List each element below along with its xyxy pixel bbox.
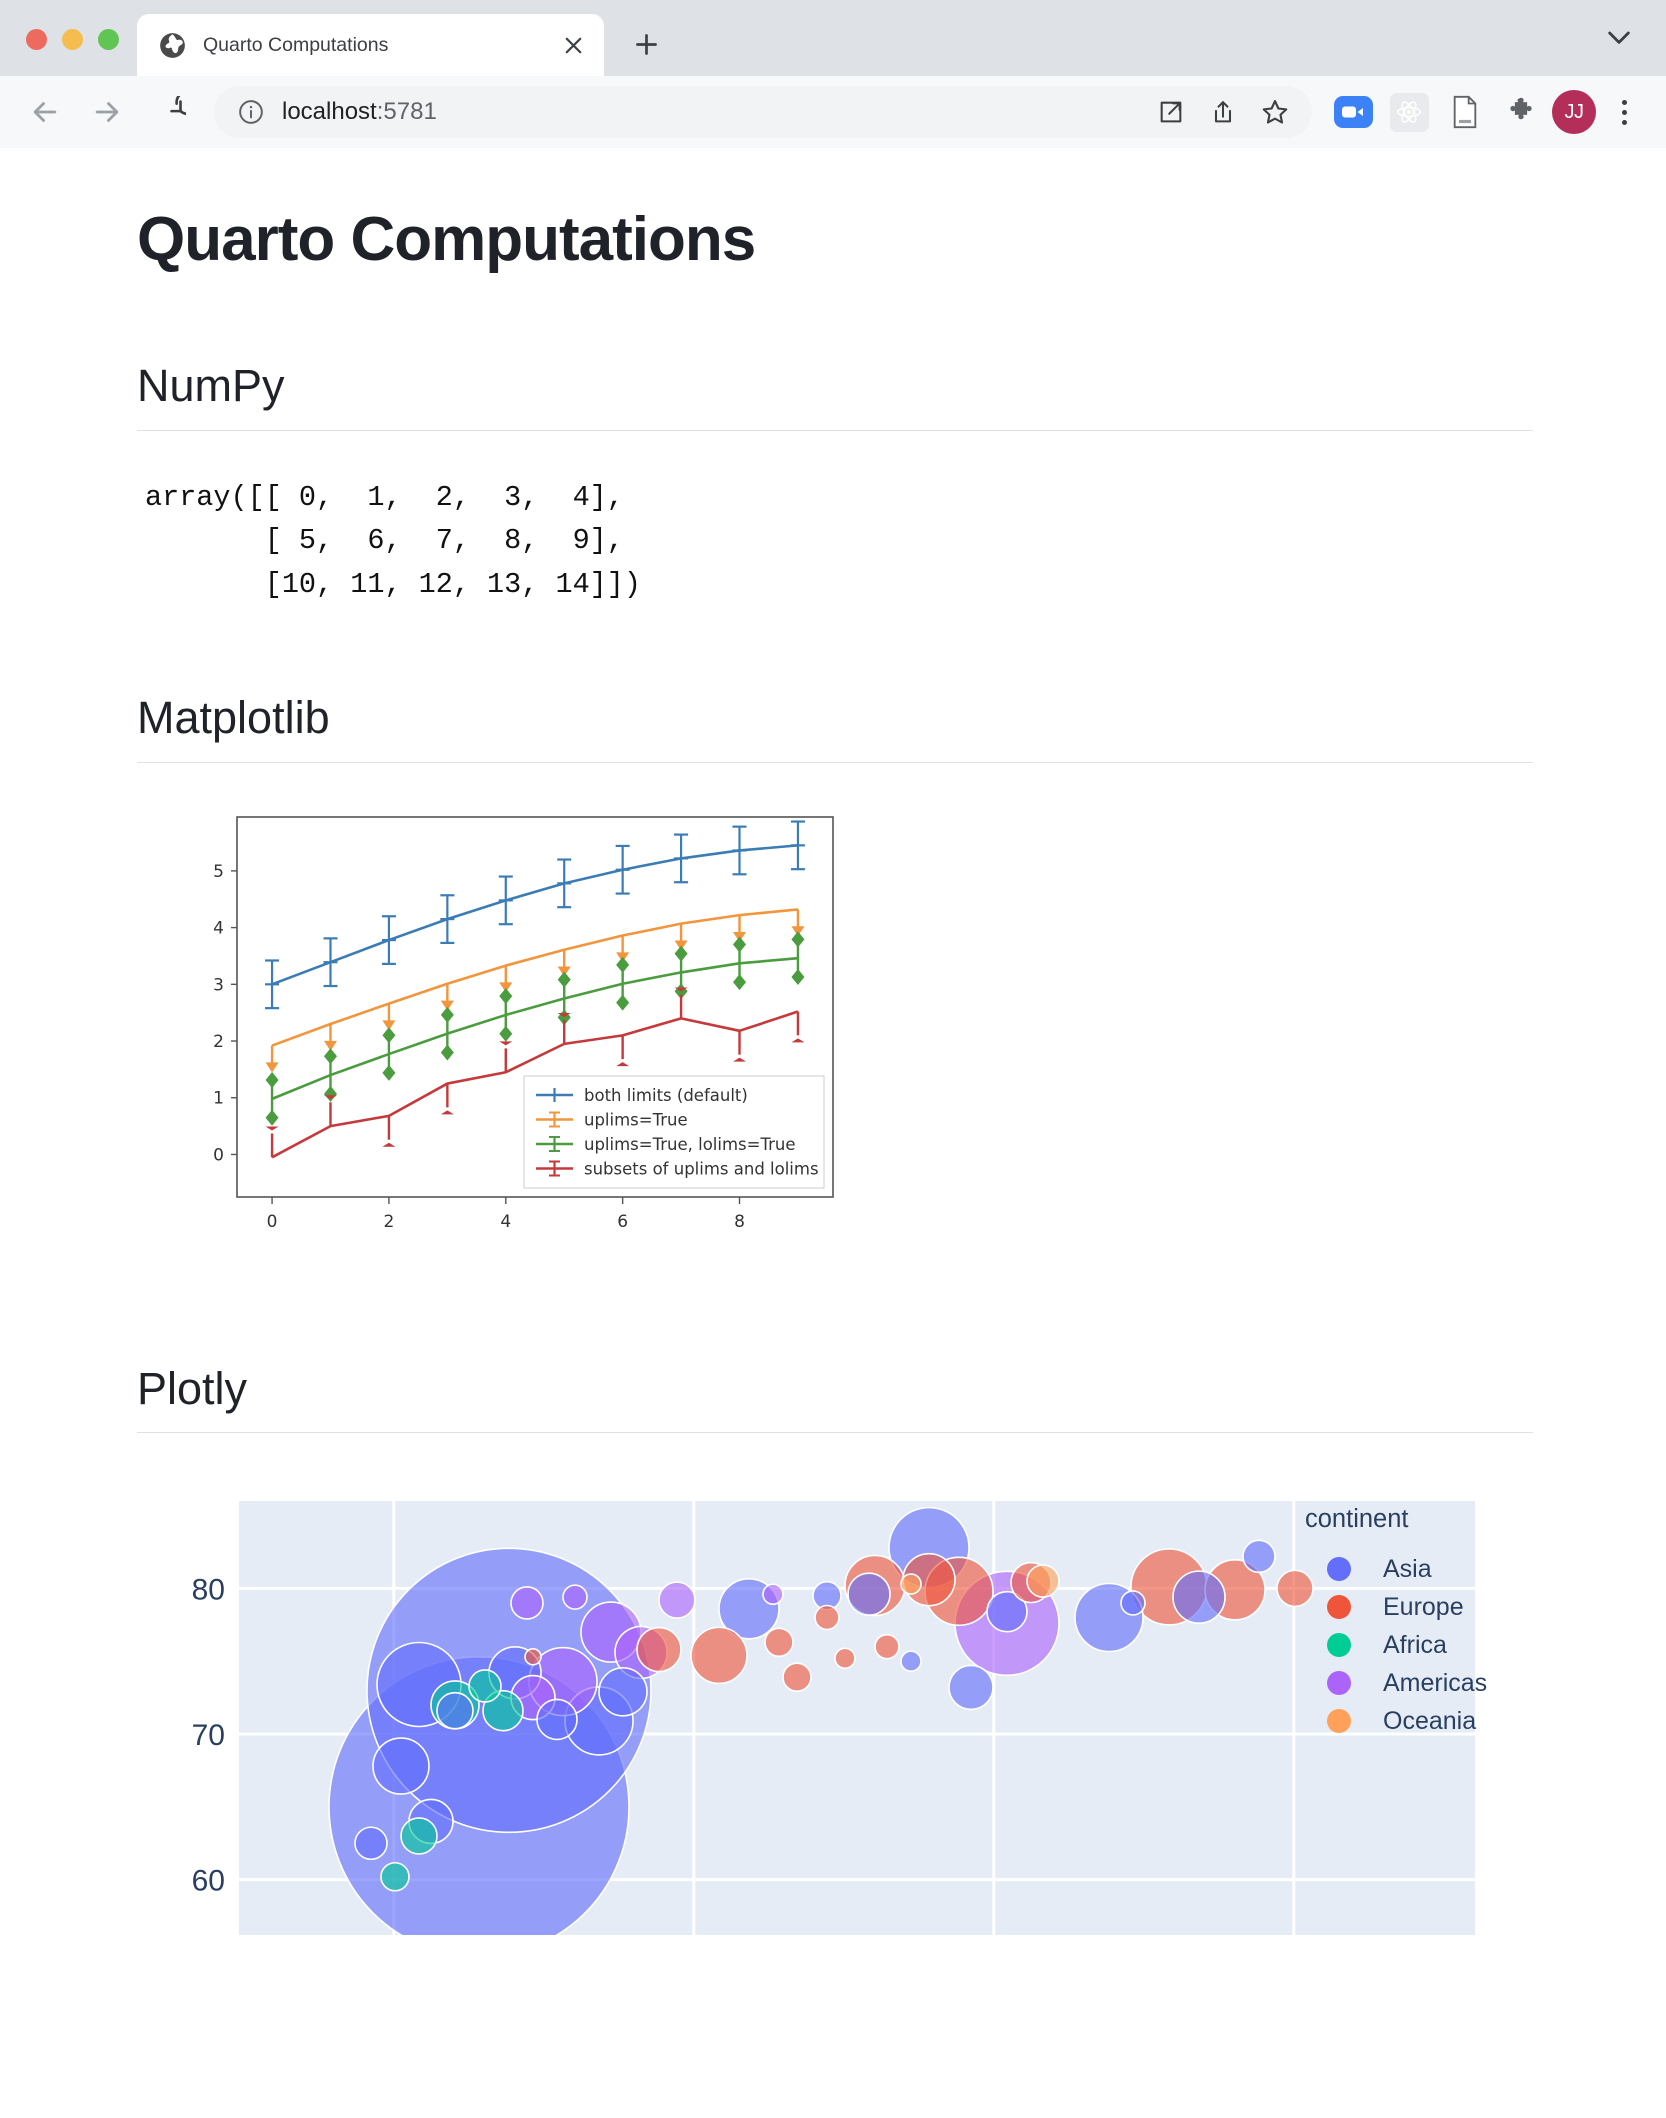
legend-entries: AsiaEuropeAfricaAmericasOceania <box>1305 1550 1487 1740</box>
section-heading-numpy: NumPy <box>137 360 1533 431</box>
window-maximize-button[interactable] <box>98 29 119 50</box>
legend-label: Asia <box>1383 1555 1432 1584</box>
legend-label: Europe <box>1383 1593 1464 1622</box>
address-bar[interactable]: localhost:5781 <box>214 86 1312 138</box>
reload-icon[interactable] <box>142 85 196 139</box>
url-host: localhost <box>282 98 377 125</box>
svg-text:both limits (default): both limits (default) <box>584 1086 748 1105</box>
svg-text:6: 6 <box>617 1212 628 1232</box>
legend-entry-africa[interactable]: Africa <box>1327 1626 1487 1664</box>
svg-text:4: 4 <box>500 1212 511 1232</box>
legend-swatch-americas <box>1327 1671 1351 1695</box>
svg-text:3: 3 <box>213 975 224 995</box>
matplotlib-errorbar-chart: 01234502468both limits (default)uplims=T… <box>175 807 847 1272</box>
legend-label: Oceania <box>1383 1707 1476 1736</box>
svg-text:subsets of uplims and lolims: subsets of uplims and lolims <box>584 1159 819 1178</box>
browser-toolbar: localhost:5781 <box>0 76 1666 148</box>
legend-entry-asia[interactable]: Asia <box>1327 1550 1487 1588</box>
url-text: localhost:5781 <box>282 98 437 126</box>
plotly-figure-wrapper: 607080lifeExp continent AsiaEuropeAfrica… <box>137 1495 1531 1935</box>
arrow-left-icon[interactable] <box>18 85 72 139</box>
legend-label: Americas <box>1383 1669 1487 1698</box>
chevron-down-icon[interactable] <box>1602 20 1636 54</box>
puzzle-piece-icon[interactable] <box>1500 91 1542 133</box>
legend-entry-europe[interactable]: Europe <box>1327 1588 1487 1626</box>
kebab-menu-icon[interactable] <box>1604 90 1644 134</box>
omnibox-actions <box>1148 89 1304 135</box>
svg-text:2: 2 <box>384 1212 395 1232</box>
browser-tab-strip: Quarto Computations <box>0 0 1666 76</box>
svg-text:0: 0 <box>213 1145 224 1165</box>
svg-text:60: 60 <box>192 1865 225 1898</box>
document-icon[interactable] <box>1444 91 1486 133</box>
svg-text:2: 2 <box>213 1032 224 1052</box>
section-heading-plotly: Plotly <box>137 1363 1533 1434</box>
window-close-button[interactable] <box>26 29 47 50</box>
legend-swatch-africa <box>1327 1633 1351 1657</box>
legend-swatch-oceania <box>1327 1709 1351 1733</box>
legend-entry-oceania[interactable]: Oceania <box>1327 1702 1487 1740</box>
window-controls <box>0 29 137 76</box>
svg-text:80: 80 <box>192 1574 225 1607</box>
arrow-right-icon[interactable] <box>80 85 134 139</box>
section-heading-matplotlib: Matplotlib <box>137 692 1533 763</box>
open-external-icon[interactable] <box>1148 89 1194 135</box>
window-minimize-button[interactable] <box>62 29 83 50</box>
globe-icon <box>159 32 186 59</box>
legend-label: Africa <box>1383 1631 1447 1660</box>
info-circle-icon[interactable] <box>236 97 266 127</box>
numpy-output: array([[ 0, 1, 2, 3, 4], [ 5, 6, 7, 8, 9… <box>145 476 1531 606</box>
svg-text:uplims=True, lolims=True: uplims=True, lolims=True <box>584 1135 796 1154</box>
svg-text:1: 1 <box>213 1088 224 1108</box>
bookmark-star-icon[interactable] <box>1252 89 1298 135</box>
matplotlib-figure-wrapper: 01234502468both limits (default)uplims=T… <box>175 807 1531 1277</box>
legend-swatch-europe <box>1327 1595 1351 1619</box>
browser-tab-title: Quarto Computations <box>203 34 558 57</box>
avatar[interactable]: JJ <box>1552 90 1596 134</box>
plus-icon[interactable] <box>618 16 674 72</box>
svg-text:8: 8 <box>734 1212 745 1232</box>
url-port: :5781 <box>377 98 437 125</box>
react-devtools-icon[interactable] <box>1388 91 1430 133</box>
legend-entry-americas[interactable]: Americas <box>1327 1664 1487 1702</box>
page-title: Quarto Computations <box>137 206 1531 274</box>
share-icon[interactable] <box>1200 89 1246 135</box>
zoom-camera-icon[interactable] <box>1332 91 1374 133</box>
svg-text:70: 70 <box>192 1719 225 1752</box>
legend-title: continent <box>1305 1505 1487 1534</box>
document-content: Quarto Computations NumPy array([[ 0, 1,… <box>137 206 1531 1935</box>
extension-icons <box>1332 91 1542 133</box>
page-viewport: Quarto Computations NumPy array([[ 0, 1,… <box>0 148 1666 2118</box>
plotly-legend: continent AsiaEuropeAfricaAmericasOceani… <box>1305 1505 1487 1740</box>
svg-text:0: 0 <box>267 1212 278 1232</box>
svg-text:5: 5 <box>213 862 224 882</box>
plotly-bubble-chart[interactable]: 607080lifeExp <box>185 1495 1475 1935</box>
browser-tab-active[interactable]: Quarto Computations <box>137 14 604 76</box>
svg-text:uplims=True: uplims=True <box>584 1110 688 1129</box>
close-icon[interactable] <box>558 30 588 60</box>
legend-swatch-asia <box>1327 1557 1351 1581</box>
svg-text:4: 4 <box>213 918 224 938</box>
